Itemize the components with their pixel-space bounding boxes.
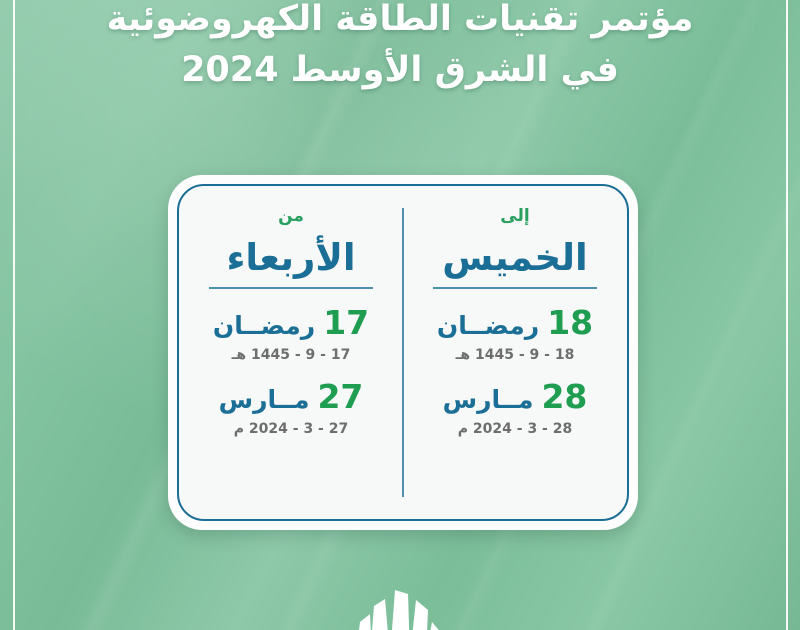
column-horizontal-divider-from [209, 287, 374, 289]
gregorian-main-from: 27مــارس [193, 379, 389, 415]
event-date-card: إلى الخميس 18رمضــان 18 - 9 - 1445 هـ 28… [168, 175, 638, 530]
column-label-from: من [278, 208, 304, 225]
title-line-2: في الشرق الأوسط 2024 [40, 45, 760, 96]
gregorian-month-from: مــارس [219, 385, 310, 414]
gregorian-main-to: 28مــارس [417, 379, 613, 415]
date-column-to: إلى الخميس 18رمضــان 18 - 9 - 1445 هـ 28… [403, 186, 627, 519]
hijri-month-to: رمضــان [437, 311, 539, 340]
gregorian-day-number-to: 28 [541, 377, 587, 416]
gregorian-date-to: 28مــارس 28 - 3 - 2024 م [417, 379, 613, 437]
poster-title: مؤتمر تقنيات الطاقة الكهروضوئية في الشرق… [0, 0, 800, 96]
gregorian-day-number-from: 27 [317, 377, 363, 416]
gregorian-date-from: 27مــارس 27 - 3 - 2024 م [193, 379, 389, 437]
event-date-card-inner: إلى الخميس 18رمضــان 18 - 9 - 1445 هـ 28… [177, 184, 629, 521]
hijri-full-date-from: 17 - 9 - 1445 هـ [193, 347, 389, 363]
hijri-month-from: رمضــان [213, 311, 315, 340]
column-horizontal-divider-to [433, 287, 598, 289]
column-weekday-from: الأربعاء [226, 239, 355, 278]
column-weekday-to: الخميس [442, 239, 587, 278]
hijri-main-from: 17رمضــان [193, 305, 389, 341]
card-vertical-divider [402, 208, 404, 497]
hijri-day-number-to: 18 [547, 303, 593, 342]
column-label-to: إلى [500, 208, 529, 225]
hijri-date-to: 18رمضــان 18 - 9 - 1445 هـ [417, 305, 613, 363]
title-line-1: مؤتمر تقنيات الطاقة الكهروضوئية [40, 0, 760, 45]
hijri-day-number-from: 17 [323, 303, 369, 342]
hijri-date-from: 17رمضــان 17 - 9 - 1445 هـ [193, 305, 389, 363]
date-column-from: من الأربعاء 17رمضــان 17 - 9 - 1445 هـ 2… [179, 186, 403, 519]
gregorian-full-date-to: 28 - 3 - 2024 م [417, 421, 613, 437]
hijri-main-to: 18رمضــان [417, 305, 613, 341]
gregorian-month-to: مــارس [443, 385, 534, 414]
fan-petals-logo [340, 566, 460, 630]
poster-canvas: مؤتمر تقنيات الطاقة الكهروضوئية في الشرق… [0, 0, 800, 630]
gregorian-full-date-from: 27 - 3 - 2024 م [193, 421, 389, 437]
hijri-full-date-to: 18 - 9 - 1445 هـ [417, 347, 613, 363]
